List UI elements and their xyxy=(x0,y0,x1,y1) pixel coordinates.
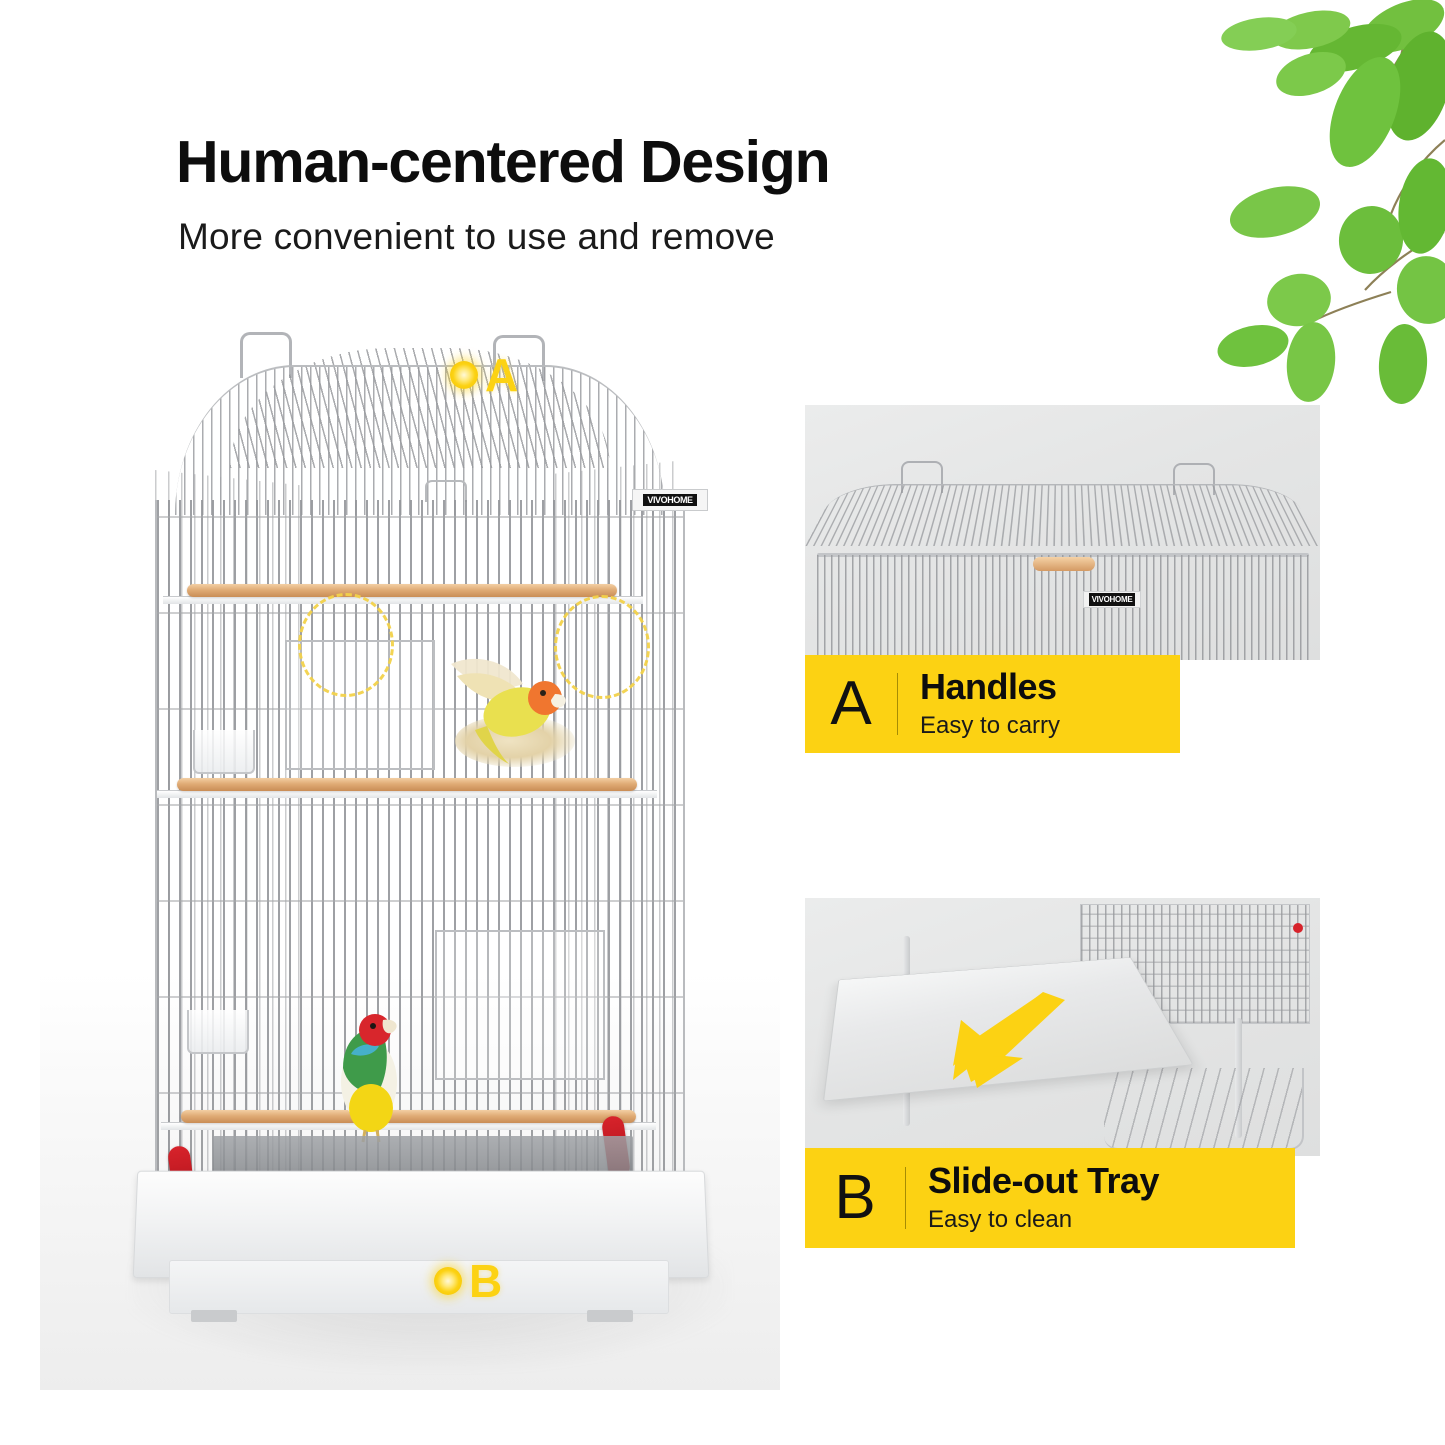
highlight-ring-handle-left xyxy=(298,593,394,697)
callout-title-b: Slide-out Tray xyxy=(928,1161,1159,1201)
inset-photo-b-background xyxy=(805,898,1320,1156)
inset-photo-slide-out-tray xyxy=(805,898,1320,1156)
brand-nameplate-label: VIVOHOME xyxy=(643,494,696,506)
callout-title-a: Handles xyxy=(920,667,1060,707)
slide-direction-arrow-icon xyxy=(945,990,1075,1090)
inset-photo-handles: VIVOHOME xyxy=(805,405,1320,660)
brand-nameplate: VIVOHOME xyxy=(632,489,708,511)
inset-perch xyxy=(1033,557,1095,571)
callout-letter-b: B xyxy=(805,1167,905,1229)
marker-letter-b: B xyxy=(469,1258,502,1304)
hero-product-photo xyxy=(40,290,780,1390)
callout-badge-b: B Slide-out Tray Easy to clean xyxy=(805,1148,1295,1248)
inset-brand-nameplate-label: VIVOHOME xyxy=(1089,593,1136,606)
cage-perch-middle xyxy=(177,778,637,791)
callout-divider-a xyxy=(897,673,898,735)
callout-subtitle-b: Easy to clean xyxy=(928,1205,1159,1235)
inset-latch-red-icon xyxy=(1293,923,1303,933)
callout-text-b: Slide-out Tray Easy to clean xyxy=(928,1161,1159,1235)
callout-subtitle-a: Easy to carry xyxy=(920,711,1060,741)
cage-door-lower xyxy=(435,930,605,1080)
inset-cage-roof xyxy=(805,484,1320,546)
callout-text-a: Handles Easy to carry xyxy=(920,667,1060,741)
infographic-canvas: Human-centered Design More convenient to… xyxy=(0,0,1445,1445)
callout-badge-a: A Handles Easy to carry xyxy=(805,655,1180,753)
cage-foot-left xyxy=(191,1310,237,1322)
leaf-decoration-icon xyxy=(1215,0,1445,420)
inset-photo-a-background: VIVOHOME xyxy=(805,405,1320,660)
callout-divider-b xyxy=(905,1167,906,1229)
highlight-ring-handle-right xyxy=(554,595,650,699)
cage-plinth xyxy=(169,1260,669,1314)
hero-marker-a: A xyxy=(450,352,518,398)
inset-storage-basket xyxy=(1104,1068,1304,1150)
callout-letter-a: A xyxy=(805,673,897,735)
page-subtitle: More convenient to use and remove xyxy=(178,216,775,258)
cage-foot-right xyxy=(587,1310,633,1322)
inset-brand-nameplate: VIVOHOME xyxy=(1083,591,1141,608)
bird-gouldian-finch xyxy=(321,996,417,1144)
cage-feeder-cup-lower xyxy=(187,1010,249,1054)
marker-letter-a: A xyxy=(485,352,518,398)
bird-cage xyxy=(135,310,695,1320)
marker-dot-a-icon xyxy=(450,361,478,389)
cage-shelf-middle xyxy=(157,790,657,798)
cage-shelf-top xyxy=(163,596,643,604)
marker-dot-b-icon xyxy=(434,1267,462,1295)
cage-roof-clip xyxy=(425,480,467,502)
cage-perch-top xyxy=(187,584,617,597)
page-title: Human-centered Design xyxy=(176,128,829,196)
cage-feeder-cup-upper xyxy=(193,730,255,774)
hero-marker-b: B xyxy=(434,1258,502,1304)
